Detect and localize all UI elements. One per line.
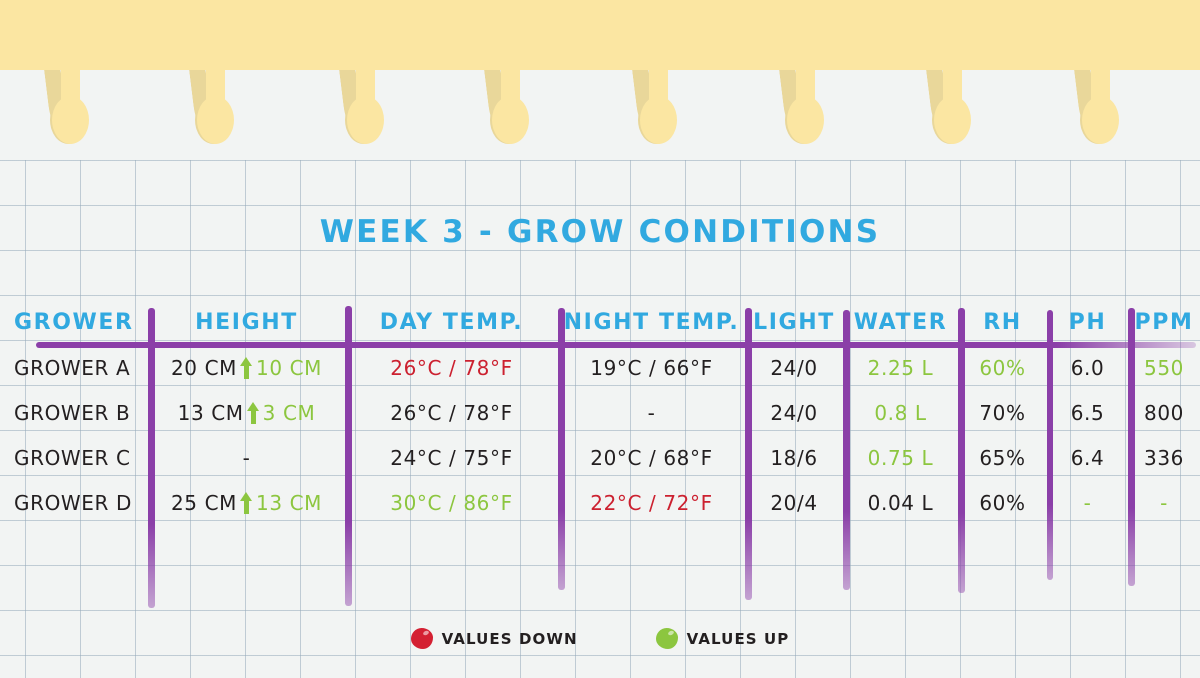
column-header-ph: PH <box>1047 310 1128 335</box>
cell-night-temp: - <box>558 401 745 425</box>
cell-ppm: 336 <box>1128 446 1200 470</box>
table-row: GROWER A20 CM10 CM26°C / 78°F19°C / 66°F… <box>0 345 1200 390</box>
green-blob-icon <box>656 628 678 649</box>
cell-rh: 60% <box>958 356 1047 380</box>
cell-ppm: 800 <box>1128 401 1200 425</box>
column-header-rh: RH <box>958 310 1047 335</box>
cell-water: 2.25 L <box>843 356 958 380</box>
column-divider <box>345 306 352 606</box>
binder-clip-ball <box>787 96 824 144</box>
column-divider <box>148 308 155 608</box>
cell-water: 0.04 L <box>843 491 958 515</box>
cell-grower: GROWER D <box>0 491 148 515</box>
column-header-night-temp: NIGHT TEMP. <box>558 310 745 335</box>
height-base-value: 25 CM <box>171 491 237 515</box>
cell-grower: GROWER B <box>0 401 148 425</box>
height-delta-value: 10 CM <box>256 356 322 380</box>
cell-ppm: 550 <box>1128 356 1200 380</box>
binder-clip-ball <box>347 96 384 144</box>
cell-light: 24/0 <box>745 401 843 425</box>
legend: VALUES DOWN VALUES UP <box>0 628 1200 649</box>
cell-day-temp: 24°C / 75°F <box>345 446 558 470</box>
table-row: GROWER C-24°C / 75°F20°C / 68°F18/60.75 … <box>0 435 1200 480</box>
arrow-up-icon <box>240 357 253 379</box>
column-header-light: LIGHT <box>745 310 843 335</box>
notebook-binder-strip <box>0 0 1200 70</box>
cell-ph: - <box>1047 491 1128 515</box>
cell-night-temp: 19°C / 66°F <box>558 356 745 380</box>
column-header-grower: GROWER <box>0 310 148 335</box>
arrow-up-icon <box>240 492 253 514</box>
binder-clip-ball <box>52 96 89 144</box>
cell-day-temp: 30°C / 86°F <box>345 491 558 515</box>
height-empty-value: - <box>243 446 251 470</box>
cell-rh: 60% <box>958 491 1047 515</box>
column-divider <box>558 308 565 590</box>
column-header-water: WATER <box>843 310 958 335</box>
cell-light: 18/6 <box>745 446 843 470</box>
column-divider <box>1047 310 1053 580</box>
legend-label-values-up: VALUES UP <box>687 630 790 648</box>
height-delta-value: 13 CM <box>256 491 322 515</box>
cell-night-temp: 22°C / 72°F <box>558 491 745 515</box>
header-underline <box>36 342 1196 348</box>
cell-night-temp: 20°C / 68°F <box>558 446 745 470</box>
column-divider <box>1128 308 1135 586</box>
cell-height: - <box>148 446 345 470</box>
column-divider <box>958 308 965 593</box>
table-row: GROWER B13 CM3 CM26°C / 78°F-24/00.8 L70… <box>0 390 1200 435</box>
cell-ppm: - <box>1128 491 1200 515</box>
column-header-day-temp: DAY TEMP. <box>345 310 558 335</box>
column-divider <box>843 310 850 590</box>
cell-height: 20 CM10 CM <box>148 356 345 380</box>
table-body: GROWER A20 CM10 CM26°C / 78°F19°C / 66°F… <box>0 345 1200 525</box>
table-row: GROWER D25 CM13 CM30°C / 86°F22°C / 72°F… <box>0 480 1200 525</box>
cell-ph: 6.0 <box>1047 356 1128 380</box>
cell-light: 24/0 <box>745 356 843 380</box>
cell-ph: 6.5 <box>1047 401 1128 425</box>
cell-height: 25 CM13 CM <box>148 491 345 515</box>
binder-clip-ball <box>934 96 971 144</box>
height-delta-value: 3 CM <box>263 401 316 425</box>
grow-conditions-table: GROWER HEIGHT DAY TEMP. NIGHT TEMP. LIGH… <box>0 300 1200 525</box>
cell-grower: GROWER C <box>0 446 148 470</box>
cell-ph: 6.4 <box>1047 446 1128 470</box>
cell-day-temp: 26°C / 78°F <box>345 401 558 425</box>
cell-water: 0.75 L <box>843 446 958 470</box>
column-header-ppm: PPM <box>1128 310 1200 335</box>
cell-rh: 70% <box>958 401 1047 425</box>
cell-day-temp: 26°C / 78°F <box>345 356 558 380</box>
cell-light: 20/4 <box>745 491 843 515</box>
binder-clip-ball <box>197 96 234 144</box>
column-header-height: HEIGHT <box>148 310 345 335</box>
cell-water: 0.8 L <box>843 401 958 425</box>
cell-rh: 65% <box>958 446 1047 470</box>
page-title: WEEK 3 - GROW CONDITIONS <box>0 214 1200 250</box>
height-base-value: 13 CM <box>178 401 244 425</box>
red-blob-icon <box>411 628 433 649</box>
binder-clip-ball <box>640 96 677 144</box>
cell-height: 13 CM3 CM <box>148 401 345 425</box>
column-divider <box>745 308 752 600</box>
cell-grower: GROWER A <box>0 356 148 380</box>
legend-item-values-up: VALUES UP <box>656 628 790 649</box>
height-base-value: 20 CM <box>171 356 237 380</box>
binder-clip-ball <box>492 96 529 144</box>
binder-clip-ball <box>1082 96 1119 144</box>
legend-item-values-down: VALUES DOWN <box>411 628 578 649</box>
arrow-up-icon <box>247 402 260 424</box>
table-header-row: GROWER HEIGHT DAY TEMP. NIGHT TEMP. LIGH… <box>0 300 1200 345</box>
legend-label-values-down: VALUES DOWN <box>442 630 578 648</box>
